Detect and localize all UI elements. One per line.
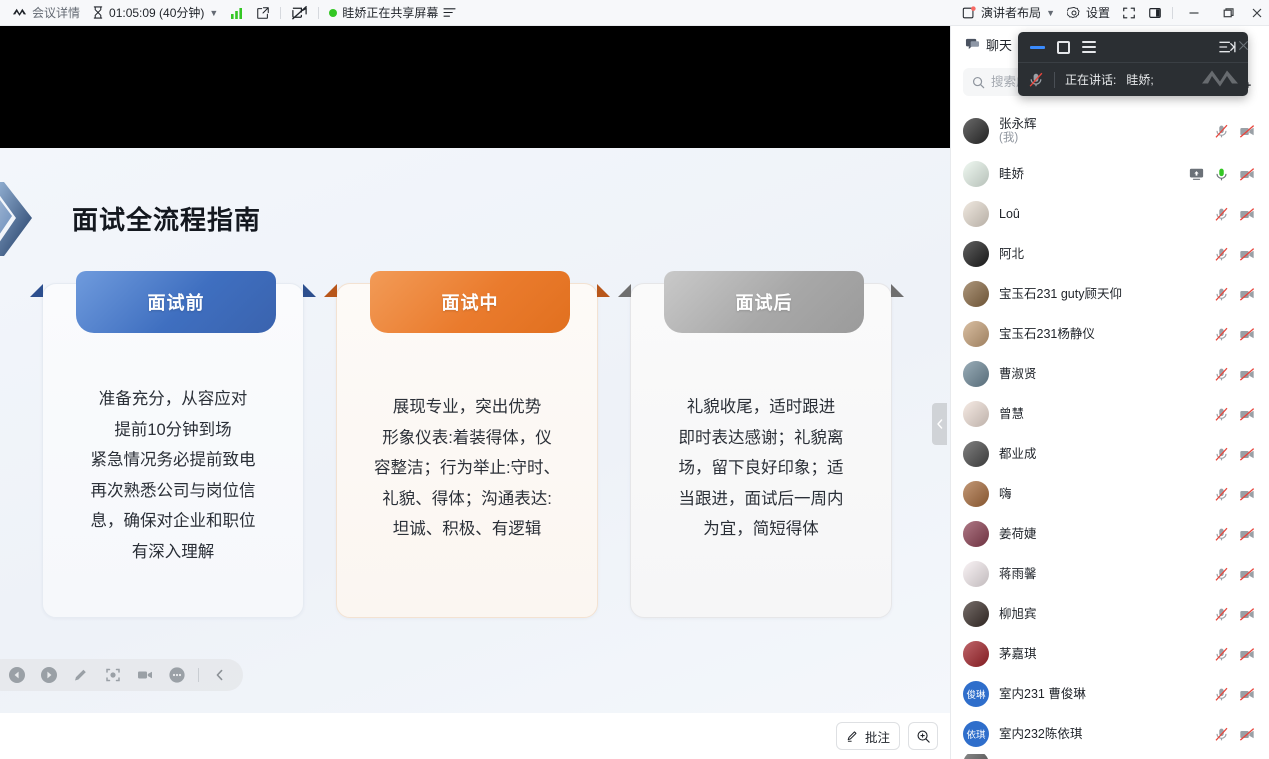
participant-name: 嗨 (999, 487, 1204, 502)
avatar: 俊琳 (963, 681, 989, 707)
mic-off-icon[interactable] (1214, 407, 1229, 422)
card-fold-left-end (618, 284, 631, 297)
camera-off-icon[interactable] (1239, 447, 1255, 462)
participant-row[interactable]: 茅嘉琪 (951, 634, 1269, 674)
participant-list[interactable]: 张永辉(我)眭娇Loû阿北宝玉石231 guty顾天仰宝玉石231杨静仪曹淑贤曾… (951, 102, 1269, 759)
camera-off-icon[interactable] (1239, 567, 1255, 582)
toolbar-divider (280, 7, 281, 19)
speaking-name: 眭娇; (1126, 71, 1153, 88)
camera-off-icon[interactable] (1239, 487, 1255, 502)
expand-panel-icon[interactable] (1219, 40, 1236, 54)
participant-status-icons (1214, 287, 1255, 302)
participant-status-icons (1214, 327, 1255, 342)
minimize-icon[interactable] (1030, 46, 1045, 49)
shared-screen-stage: 面试全流程指南 面试前 准备充分，从容应对 提前10分钟到场 紧急情况务必提前致… (0, 26, 950, 759)
participant-name: 曾慧 (999, 407, 1204, 422)
avatar (963, 401, 989, 427)
participant-status-icons (1214, 727, 1255, 742)
menu-icon[interactable] (1082, 41, 1096, 54)
participant-name: 柳旭宾 (999, 607, 1204, 622)
meeting-detail-label: 会议详情 (32, 4, 80, 21)
avatar (963, 521, 989, 547)
chevron-down-icon: ▼ (209, 8, 218, 18)
mic-off-icon[interactable] (1214, 607, 1229, 622)
participant-name: 蒋雨馨 (999, 567, 1204, 582)
camera-off-icon[interactable] (1239, 247, 1255, 262)
camera-off-icon[interactable] (1239, 287, 1255, 302)
participant-row[interactable]: 俊琳室内231 曹俊琳 (951, 674, 1269, 714)
participant-name: 张永辉(我) (999, 117, 1204, 145)
participant-row[interactable]: 曹淑贤 (951, 354, 1269, 394)
prev-slide-button[interactable] (4, 662, 30, 688)
card-header-before: 面试前 (76, 271, 276, 333)
participant-row[interactable]: 依琪室内232陈依琪 (951, 714, 1269, 754)
avatar: 依琪 (963, 721, 989, 747)
participant-name-text: 曹淑贤 (999, 367, 1037, 381)
mic-off-icon[interactable] (1028, 72, 1044, 88)
slide-toolbar-divider (198, 668, 199, 682)
presenter-layout-button[interactable]: 演讲者布局 ▼ (956, 2, 1061, 24)
sharing-status-label: 眭娇正在共享屏幕 (342, 4, 438, 21)
mic-off-icon[interactable] (1214, 327, 1229, 342)
participant-name-text: 都业成 (999, 447, 1037, 461)
participant-name-text: 柳旭宾 (999, 607, 1037, 621)
avatar (963, 321, 989, 347)
presenter-float-window[interactable]: 正在讲话: 眭娇; (1018, 32, 1248, 96)
annotate-button[interactable]: 批注 (836, 722, 900, 750)
camera-off-icon[interactable] (1239, 727, 1255, 742)
slide-toolbar (0, 659, 243, 691)
participant-name-text: 茅嘉琪 (999, 647, 1037, 661)
mic-off-icon[interactable] (1214, 124, 1229, 139)
participant-row[interactable]: 嗨 (951, 474, 1269, 514)
mic-off-icon[interactable] (1214, 727, 1229, 742)
stage-bottom-bar: 批注 (0, 713, 950, 759)
avatar (963, 441, 989, 467)
participant-name: 茅嘉琪 (999, 647, 1204, 662)
participant-status-icons (1214, 207, 1255, 222)
avatar (963, 561, 989, 587)
participant-name-text: 阿北 (999, 247, 1024, 261)
participant-name-text: 宝玉石231 guty顾天仰 (999, 287, 1122, 301)
zoom-in-button[interactable] (908, 722, 938, 750)
participant-status-icons (1214, 527, 1255, 542)
sharing-status[interactable]: 眭娇正在共享屏幕 (323, 2, 462, 24)
speaking-status-bar: 正在讲话: 眭娇; (1018, 62, 1248, 96)
toolbar-divider-2 (318, 7, 319, 19)
chat-icon (965, 37, 980, 51)
participant-status-icons (1214, 687, 1255, 702)
card-header-during: 面试中 (370, 271, 570, 333)
tab-chat-label: 聊天 (986, 35, 1012, 54)
sharing-indicator-dot (329, 9, 337, 17)
avatar (963, 118, 989, 144)
meeting-timer[interactable]: 01:05:09 (40分钟) ▼ (86, 2, 224, 24)
video-button[interactable] (132, 662, 158, 688)
toolbar-divider-3 (1172, 7, 1173, 19)
avatar (963, 281, 989, 307)
participant-status-icons (1214, 124, 1255, 139)
card-fold-right-end (891, 284, 904, 297)
speaking-label: 正在讲话: (1065, 71, 1116, 88)
presentation-slide: 面试全流程指南 面试前 准备充分，从容应对 提前10分钟到场 紧急情况务必提前致… (0, 148, 950, 713)
participant-name: Loû (999, 207, 1204, 222)
recording-off-icon (291, 5, 308, 21)
slide-title: 面试全流程指南 (72, 200, 261, 237)
participant-row[interactable]: 眭娇 (951, 154, 1269, 194)
camera-off-icon[interactable] (1239, 607, 1255, 622)
card-before-interview: 面试前 准备充分，从容应对 提前10分钟到场 紧急情况务必提前致电 再次熟悉公司… (42, 283, 304, 618)
mic-off-icon[interactable] (1214, 287, 1229, 302)
settings-label: 设置 (1086, 4, 1110, 21)
avatar (963, 361, 989, 387)
participant-row[interactable]: 阿北 (951, 234, 1269, 274)
fullscreen-icon (1122, 6, 1136, 20)
screen-share-icon[interactable] (1189, 167, 1204, 181)
zoom-in-icon (916, 729, 931, 744)
window-maximize-button[interactable] (1211, 0, 1245, 26)
camera-off-icon[interactable] (1239, 124, 1255, 139)
mic-off-icon[interactable] (1214, 207, 1229, 222)
participant-name-text: 宝玉石231杨静仪 (999, 327, 1095, 341)
participant-row[interactable] (951, 754, 1269, 759)
participant-name: 曹淑贤 (999, 367, 1204, 382)
participant-status-icons (1214, 367, 1255, 382)
participant-status-icons (1214, 567, 1255, 582)
camera-off-icon[interactable] (1239, 207, 1255, 222)
mic-off-icon[interactable] (1214, 647, 1229, 662)
participants-panel: 聊天 张永辉(我)眭娇Loû阿北宝玉石231 guty顾天仰宝玉石231杨静仪曹… (950, 26, 1269, 759)
participant-status-icons (1189, 167, 1255, 182)
camera-off-icon[interactable] (1239, 167, 1255, 182)
participant-name: 都业成 (999, 447, 1204, 462)
search-icon (972, 76, 985, 89)
participant-name-text: Loû (999, 207, 1020, 221)
float-window-titlebar (1018, 32, 1248, 62)
mic-off-icon[interactable] (1214, 487, 1229, 502)
avatar (963, 481, 989, 507)
panel-collapse-handle[interactable] (932, 403, 947, 445)
top-bar: 会议详情 01:05:09 (40分钟) ▼ (0, 0, 1269, 26)
chevron-down-icon-layout: ▼ (1046, 8, 1055, 18)
participant-name-text: 室内232陈依琪 (999, 727, 1082, 741)
participant-name-text: 姜荷婕 (999, 527, 1037, 541)
window-minimize-button[interactable] (1177, 0, 1211, 26)
participant-name-text: 蒋雨馨 (999, 567, 1037, 581)
signal-bars-icon (230, 7, 244, 19)
card-body-during: 展现专业，突出优势 形象仪表:着装得体，仪 容整洁；行为举止:守时、 礼貌、得体… (337, 362, 597, 545)
participant-status-icons (1214, 407, 1255, 422)
settings-button[interactable]: 设置 (1061, 2, 1116, 24)
feishu-logo-icon (1200, 67, 1240, 92)
camera-off-icon[interactable] (1239, 327, 1255, 342)
avatar (963, 641, 989, 667)
participant-row[interactable]: 柳旭宾 (951, 594, 1269, 634)
meeting-detail-button[interactable]: 会议详情 (6, 2, 86, 24)
participant-row[interactable]: 张永辉(我) (951, 108, 1269, 154)
mic-off-icon[interactable] (1214, 567, 1229, 582)
card-fold-left (30, 284, 43, 297)
annotate-label: 批注 (865, 727, 890, 746)
participant-name: 宝玉石231杨静仪 (999, 327, 1204, 342)
participant-self-label: (我) (999, 132, 1204, 145)
sharing-more-icon[interactable] (443, 7, 456, 18)
float-divider (1054, 72, 1055, 88)
avatar (963, 601, 989, 627)
feishu-logo-icon (12, 5, 27, 20)
participant-name: 宝玉石231 guty顾天仰 (999, 287, 1204, 302)
card-body-after: 礼貌收尾，适时跟进 即时表达感谢；礼貌离 场，留下良好印象；适 当跟进，面试后一… (631, 362, 891, 545)
gear-icon (1067, 6, 1081, 20)
avatar (963, 241, 989, 267)
pen-button[interactable] (68, 662, 94, 688)
participant-name-text: 室内231 曹俊琳 (999, 687, 1086, 701)
participant-row[interactable]: Loû (951, 194, 1269, 234)
side-panel-button[interactable] (1142, 2, 1168, 24)
more-button[interactable] (164, 662, 190, 688)
network-status-button[interactable] (224, 2, 250, 24)
card-fold-right (303, 284, 316, 297)
fullscreen-button[interactable] (1116, 2, 1142, 24)
participant-name-text: 曾慧 (999, 407, 1024, 421)
participant-name-text: 嗨 (999, 487, 1012, 501)
participant-name-text: 眭娇 (999, 167, 1024, 181)
participant-name: 眭娇 (999, 167, 1179, 182)
participant-name: 室内232陈依琪 (999, 727, 1204, 742)
participant-status-icons (1214, 647, 1255, 662)
mic-off-icon[interactable] (1214, 527, 1229, 542)
side-panel-icon (1148, 6, 1162, 20)
recording-toggle-button[interactable] (285, 2, 314, 24)
restore-icon[interactable] (1057, 41, 1070, 54)
float-window-close-button[interactable] (1238, 38, 1249, 54)
collapse-toolbar-button[interactable] (207, 662, 233, 688)
mic-off-icon[interactable] (1214, 687, 1229, 702)
participant-row[interactable]: 都业成 (951, 434, 1269, 474)
participant-status-icons (1214, 247, 1255, 262)
participant-name-text: 张永辉 (999, 117, 1037, 131)
mic-off-icon[interactable] (1214, 447, 1229, 462)
participant-row[interactable]: 宝玉石231 guty顾天仰 (951, 274, 1269, 314)
card-body-before: 准备充分，从容应对 提前10分钟到场 紧急情况务必提前致电 再次熟悉公司与岗位信… (43, 362, 303, 567)
card-during-interview: 面试中 展现专业，突出优势 形象仪表:着装得体，仪 容整洁；行为举止:守时、 礼… (336, 283, 598, 618)
mic-off-icon[interactable] (1214, 247, 1229, 262)
avatar (963, 161, 989, 187)
participant-row[interactable]: 宝玉石231杨静仪 (951, 314, 1269, 354)
pen-annotate-icon (846, 729, 860, 743)
slide-chevron-decoration (0, 170, 52, 274)
avatar (963, 201, 989, 227)
participant-status-icons (1214, 487, 1255, 502)
card-fold-right-mid (597, 284, 610, 297)
participant-status-icons (1214, 447, 1255, 462)
hourglass-icon (92, 6, 104, 19)
card-after-interview: 面试后 礼貌收尾，适时跟进 即时表达感谢；礼貌离 场，留下良好印象；适 当跟进，… (630, 283, 892, 618)
popout-window-icon (256, 6, 270, 20)
camera-off-icon[interactable] (1239, 647, 1255, 662)
popout-window-button[interactable] (250, 2, 276, 24)
card-header-after: 面试后 (664, 271, 864, 333)
tab-chat[interactable]: 聊天 (965, 35, 1012, 54)
slide-cards: 面试前 准备充分，从容应对 提前10分钟到场 紧急情况务必提前致电 再次熟悉公司… (42, 283, 907, 618)
mic-on-icon[interactable] (1214, 167, 1229, 182)
participant-row[interactable]: 曾慧 (951, 394, 1269, 434)
participant-name: 姜荷婕 (999, 527, 1204, 542)
camera-off-icon[interactable] (1239, 527, 1255, 542)
camera-off-icon[interactable] (1239, 687, 1255, 702)
window-close-button[interactable] (1245, 0, 1269, 26)
participant-name: 室内231 曹俊琳 (999, 687, 1204, 702)
mic-off-icon[interactable] (1214, 367, 1229, 382)
presenter-layout-icon (962, 6, 976, 20)
card-fold-left-mid (324, 284, 337, 297)
participant-row[interactable]: 姜荷婕 (951, 514, 1269, 554)
camera-off-icon[interactable] (1239, 407, 1255, 422)
camera-off-icon[interactable] (1239, 367, 1255, 382)
avatar (963, 754, 989, 759)
participant-status-icons (1214, 607, 1255, 622)
participant-row[interactable]: 蒋雨馨 (951, 554, 1269, 594)
participant-name: 阿北 (999, 247, 1204, 262)
next-slide-button[interactable] (36, 662, 62, 688)
presenter-layout-label: 演讲者布局 (981, 4, 1041, 21)
laser-pointer-button[interactable] (100, 662, 126, 688)
timer-text: 01:05:09 (40分钟) (109, 4, 204, 21)
